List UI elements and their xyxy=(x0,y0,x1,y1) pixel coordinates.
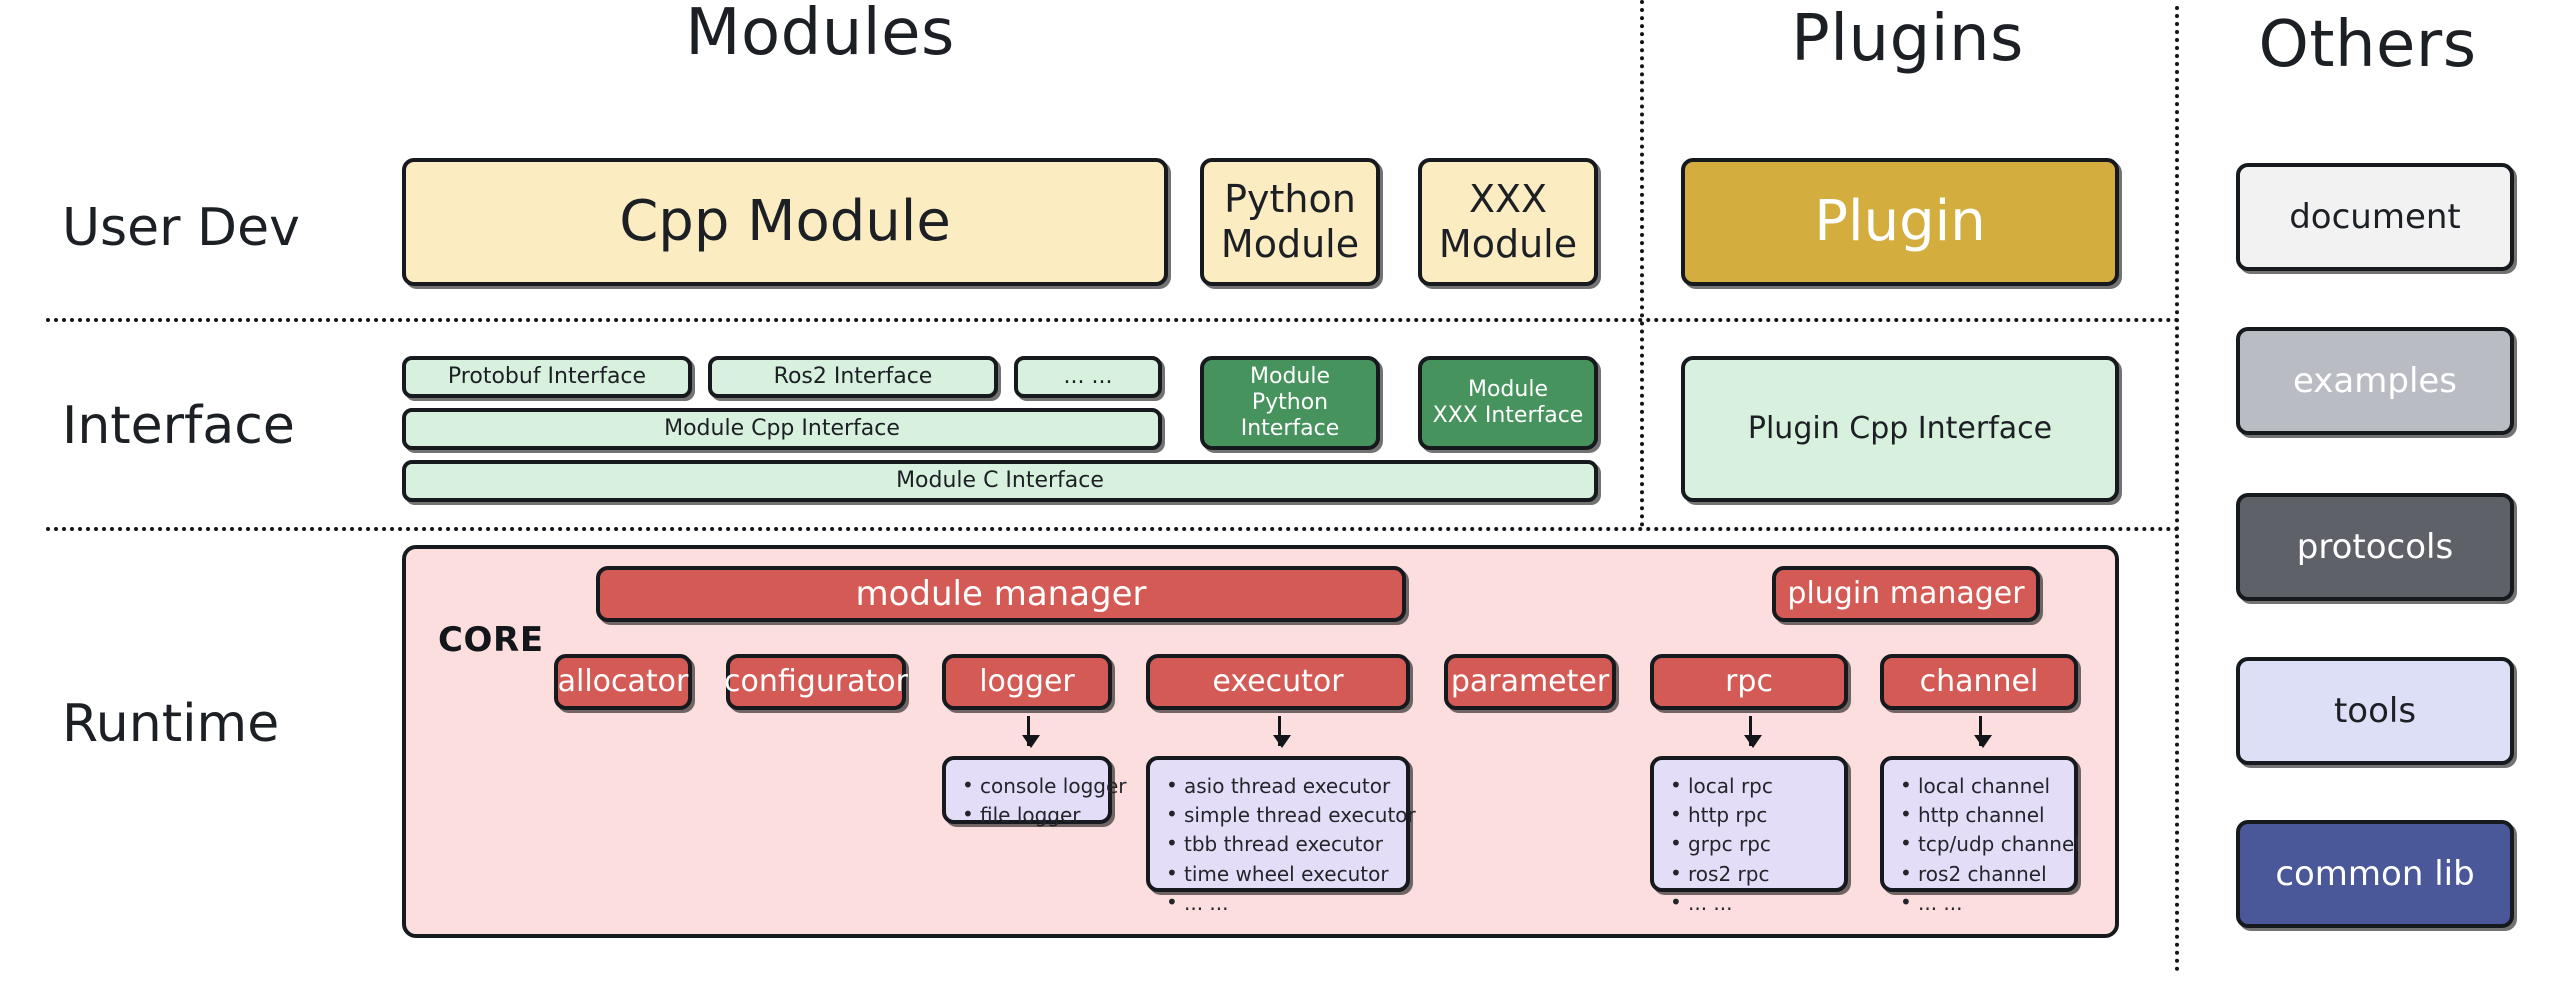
protobuf-interface-box[interactable]: Protobuf Interface xyxy=(402,356,692,398)
others-examples-box[interactable]: examples xyxy=(2236,327,2514,435)
row-label-user-dev: User Dev xyxy=(62,198,300,258)
detail-item: simple thread executor xyxy=(1184,801,1396,830)
detail-item: http channel xyxy=(1918,801,2064,830)
row-label-interface: Interface xyxy=(62,396,295,456)
module-c-interface-box[interactable]: Module C Interface xyxy=(402,460,1598,502)
executor-arrow xyxy=(1278,716,1281,746)
cpp-module-box[interactable]: Cpp Module xyxy=(402,158,1168,286)
detail-item: ros2 channel xyxy=(1918,860,2064,889)
executor-box[interactable]: executor xyxy=(1146,654,1410,710)
plugin-manager-box[interactable]: plugin manager xyxy=(1772,566,2040,622)
parameter-box[interactable]: parameter xyxy=(1444,654,1616,710)
row-label-runtime: Runtime xyxy=(62,694,279,754)
others-protocols-box[interactable]: protocols xyxy=(2236,493,2514,601)
core-label: CORE xyxy=(438,620,544,660)
column-title-plugins: Plugins xyxy=(1640,2,2175,76)
detail-item: ... ... xyxy=(1184,889,1396,918)
row-divider-user-dev xyxy=(46,318,2181,322)
column-title-others: Others xyxy=(2175,8,2560,82)
column-divider-plugins-others xyxy=(2175,6,2179,972)
detail-item: ... ... xyxy=(1688,889,1834,918)
plugin-box[interactable]: Plugin xyxy=(1681,158,2119,286)
rpc-details: local rpchttp rpcgrpc rpcros2 rpc... ... xyxy=(1650,756,1848,892)
detail-item: tbb thread executor xyxy=(1184,830,1396,859)
more-interface-box[interactable]: ... ... xyxy=(1014,356,1162,398)
logger-details: console loggerfile logger xyxy=(942,756,1112,824)
others-common-lib-box[interactable]: common lib xyxy=(2236,820,2514,928)
executor-details: asio thread executorsimple thread execut… xyxy=(1146,756,1410,892)
column-divider-modules-plugins xyxy=(1640,0,1644,527)
ros2-interface-box[interactable]: Ros2 Interface xyxy=(708,356,998,398)
architecture-diagram: Modules Plugins Others User Dev Interfac… xyxy=(0,0,2560,984)
xxx-module-box[interactable]: XXX Module xyxy=(1418,158,1598,286)
detail-item: ros2 rpc xyxy=(1688,860,1834,889)
channel-box[interactable]: channel xyxy=(1880,654,2078,710)
detail-item: local channel xyxy=(1918,772,2064,801)
module-manager-box[interactable]: module manager xyxy=(596,566,1406,622)
detail-item: time wheel executor xyxy=(1184,860,1396,889)
detail-item: http rpc xyxy=(1688,801,1834,830)
plugin-cpp-interface-box[interactable]: Plugin Cpp Interface xyxy=(1681,356,2119,502)
configurator-box[interactable]: configurator xyxy=(726,654,906,710)
logger-box[interactable]: logger xyxy=(942,654,1112,710)
detail-item: ... ... xyxy=(1918,889,2064,918)
rpc-box[interactable]: rpc xyxy=(1650,654,1848,710)
detail-item: grpc rpc xyxy=(1688,830,1834,859)
row-divider-interface xyxy=(46,527,2181,531)
logger-detail-list: console loggerfile logger xyxy=(958,772,1098,830)
logger-arrow xyxy=(1027,716,1030,746)
module-python-interface-box[interactable]: Module Python Interface xyxy=(1200,356,1380,450)
rpc-arrow xyxy=(1749,716,1752,746)
channel-detail-list: local channelhttp channeltcp/udp channel… xyxy=(1896,772,2064,918)
detail-item: asio thread executor xyxy=(1184,772,1396,801)
allocator-box[interactable]: allocator xyxy=(554,654,692,710)
detail-item: local rpc xyxy=(1688,772,1834,801)
module-cpp-interface-box[interactable]: Module Cpp Interface xyxy=(402,408,1162,450)
column-title-modules: Modules xyxy=(0,0,1640,70)
executor-detail-list: asio thread executorsimple thread execut… xyxy=(1162,772,1396,918)
channel-details: local channelhttp channeltcp/udp channel… xyxy=(1880,756,2078,892)
detail-item: tcp/udp channel xyxy=(1918,830,2064,859)
module-xxx-interface-box[interactable]: Module XXX Interface xyxy=(1418,356,1598,450)
python-module-box[interactable]: Python Module xyxy=(1200,158,1380,286)
others-document-box[interactable]: document xyxy=(2236,163,2514,271)
channel-arrow xyxy=(1979,716,1982,746)
rpc-detail-list: local rpchttp rpcgrpc rpcros2 rpc... ... xyxy=(1666,772,1834,918)
others-tools-box[interactable]: tools xyxy=(2236,657,2514,765)
detail-item: file logger xyxy=(980,801,1098,830)
detail-item: console logger xyxy=(980,772,1098,801)
